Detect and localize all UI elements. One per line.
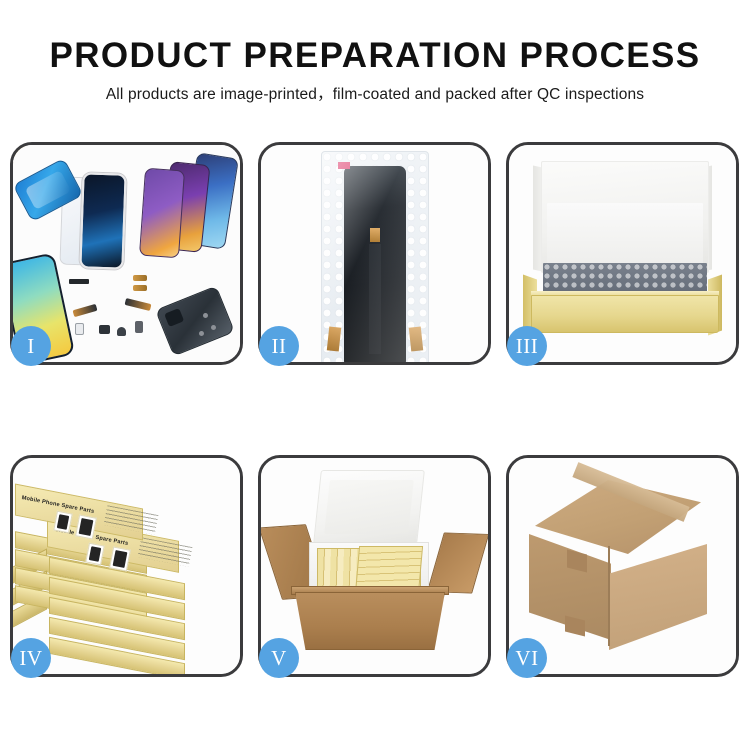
spare-part-icon <box>99 325 110 334</box>
step-6-image <box>509 458 736 674</box>
process-step-panel-2: II <box>258 142 491 365</box>
carton-side-icon <box>609 544 707 650</box>
yellow-box-icon <box>531 295 719 333</box>
process-step-panel-1: I <box>10 142 243 365</box>
step-badge-1: I <box>11 326 51 366</box>
phone-display-icon <box>139 168 185 259</box>
page-subtitle: All products are image-printed，film-coat… <box>0 85 750 105</box>
spare-part-icon <box>133 285 147 291</box>
step-badge-3: III <box>507 326 547 366</box>
process-step-panel-4: Mobile Phone Spare Parts Mobile Phone Sp… <box>10 455 243 677</box>
step-badge-6: VI <box>507 638 547 678</box>
product-preparation-process-page: PRODUCT PREPARATION PROCESS All products… <box>0 0 750 750</box>
spare-part-icon <box>75 323 84 335</box>
spare-part-icon <box>117 327 126 336</box>
step-badge-2: II <box>259 326 299 366</box>
screw-icon <box>203 313 208 318</box>
page-title: PRODUCT PREPARATION PROCESS <box>0 36 750 76</box>
process-step-panel-3: III <box>506 142 739 365</box>
step-3-image <box>509 145 736 362</box>
spare-part-icon <box>135 321 143 333</box>
carton-seam-icon <box>608 546 610 646</box>
process-step-panel-5: V <box>258 455 491 677</box>
step-badge-4: IV <box>11 638 51 678</box>
spare-part-icon <box>133 275 147 281</box>
step-4-image: Mobile Phone Spare Parts Mobile Phone Sp… <box>13 458 240 674</box>
step-1-image <box>13 145 240 362</box>
phone-display-icon <box>79 172 126 269</box>
page-header: PRODUCT PREPARATION PROCESS All products… <box>0 36 750 105</box>
spare-part-icon <box>69 279 89 284</box>
process-step-grid: I II <box>10 142 740 677</box>
screw-icon <box>199 331 204 336</box>
carton-body-icon <box>295 592 445 650</box>
bubble-wrap-icon <box>321 151 429 362</box>
foam-lid-icon <box>313 470 425 544</box>
step-5-image <box>261 458 488 674</box>
step-2-image <box>261 145 488 362</box>
carton-flap-icon <box>427 532 488 593</box>
process-step-panel-6: VI <box>506 455 739 677</box>
step-badge-5: V <box>259 638 299 678</box>
foam-sheet-icon <box>547 203 703 265</box>
screw-icon <box>211 325 216 330</box>
